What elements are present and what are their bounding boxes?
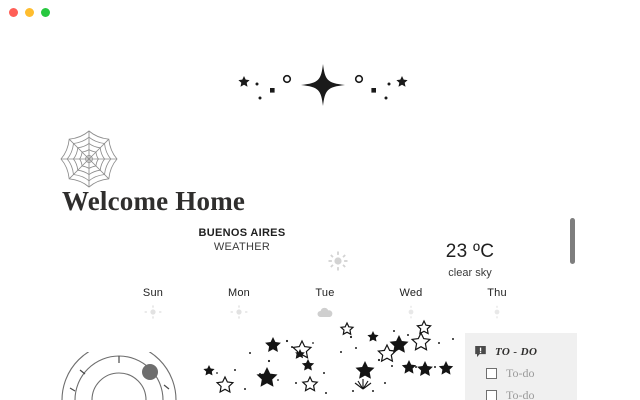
weather-section-label: WEATHER [162,241,322,253]
todo-checkbox[interactable] [486,390,497,400]
forecast-day-label: Sun [110,287,196,299]
minimize-window-button[interactable] [25,8,34,17]
forecast-day-mon: Mon [196,287,282,317]
sun-icon [328,251,348,271]
maximize-window-button[interactable] [41,8,50,17]
sun-icon [144,305,162,319]
todo-checkbox[interactable] [486,368,497,379]
forecast-day-label: Thu [454,287,540,299]
exclamation-bubble-icon [474,345,487,358]
page-title: Welcome Home [62,186,245,217]
vertical-scrollbar[interactable] [569,218,576,378]
weather-temperature: 23 ºC [410,241,530,263]
todo-title: TO - DO [495,346,537,358]
sparkle-banner-icon [228,60,418,108]
weather-description: clear sky [410,267,530,279]
forecast-day-label: Wed [368,287,454,299]
todo-panel: TO - DO To-do To-do [465,333,577,400]
close-window-button[interactable] [9,8,18,17]
todo-list-item[interactable]: To-do [486,388,535,400]
weather-widget: BUENOS AIRES WEATHER 23 ºC clear sky [110,227,540,317]
forecast-day-wed: Wed [368,287,454,317]
forecast-day-label: Tue [282,287,368,299]
starfield-icon [195,317,460,400]
todo-item-label: To-do [506,366,535,381]
window-titlebar [0,0,640,22]
todo-item-label: To-do [506,388,535,400]
scrollbar-thumb[interactable] [570,218,575,264]
weather-location: BUENOS AIRES [162,227,322,239]
forecast-day-thu: Thu [454,287,540,317]
forecast-day-tue: Tue [282,287,368,317]
weather-forecast-row: Sun Mon [110,287,540,317]
page-canvas: Welcome Home BUENOS AIRES WEATHER 23 [0,22,640,400]
forecast-day-sun: Sun [110,287,196,317]
forecast-day-label: Mon [196,287,282,299]
todo-list-item[interactable]: To-do [486,366,535,381]
orbit-diagram-icon [58,352,180,400]
todo-header: TO - DO [474,345,537,358]
spiderweb-icon [59,130,119,188]
sun-icon [488,305,506,319]
